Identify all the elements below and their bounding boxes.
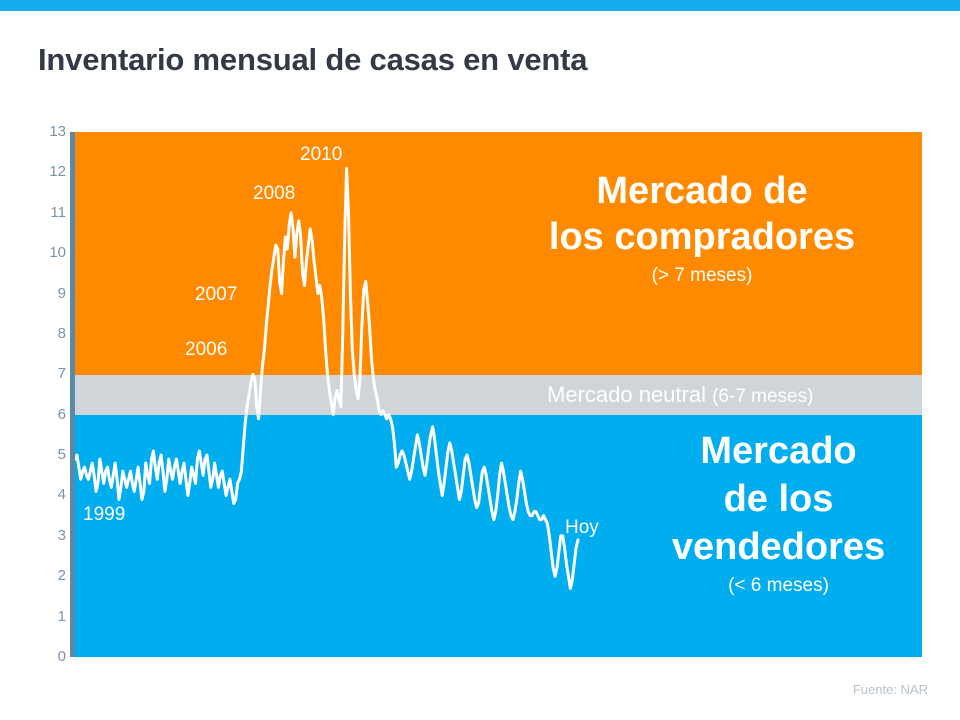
sellers-market-line1: Mercado [635,429,922,473]
y-tick-label: 7 [20,365,66,382]
y-tick-label: 10 [20,244,66,261]
buyers-market-line2: los compradores [482,215,922,259]
annotation-2010: 2010 [300,144,342,166]
y-tick-label: 12 [20,163,66,180]
y-tick-label: 3 [20,527,66,544]
y-tick-label: 11 [20,204,66,221]
annotation-2007: 2007 [195,284,237,306]
chart-plot-area: 1999 2006 2007 2008 2010 Hoy Mercado de … [75,132,922,657]
accent-topbar [0,0,960,11]
buyers-market-note: (> 7 meses) [482,265,922,287]
y-axis-ticks: 131211109876543210 [10,132,66,657]
sellers-market-note: (< 6 meses) [635,575,922,597]
y-tick-label: 5 [20,446,66,463]
buyers-market-line1: Mercado de [482,169,922,213]
y-tick-label: 0 [20,648,66,665]
annotation-1999: 1999 [83,504,125,526]
y-tick-label: 4 [20,486,66,503]
neutral-market-note: (6-7 meses) [712,386,813,407]
page-title: Inventario mensual de casas en venta [38,42,587,78]
y-tick-label: 6 [20,406,66,423]
sellers-market-line2: de los [635,477,922,521]
y-tick-label: 13 [20,123,66,140]
annotation-2008: 2008 [253,183,295,205]
annotation-hoy: Hoy [565,517,599,539]
slide-root: Inventario mensual de casas en venta 131… [0,0,960,720]
y-tick-label: 1 [20,608,66,625]
neutral-market-text: Mercado neutral [547,382,712,407]
y-tick-label: 8 [20,325,66,342]
y-tick-label: 9 [20,285,66,302]
neutral-market-label: Mercado neutral (6-7 meses) [547,382,813,408]
y-tick-label: 2 [20,567,66,584]
source-note: Fuente: NAR [853,682,928,697]
annotation-2006: 2006 [185,339,227,361]
sellers-market-line3: vendedores [635,525,922,569]
